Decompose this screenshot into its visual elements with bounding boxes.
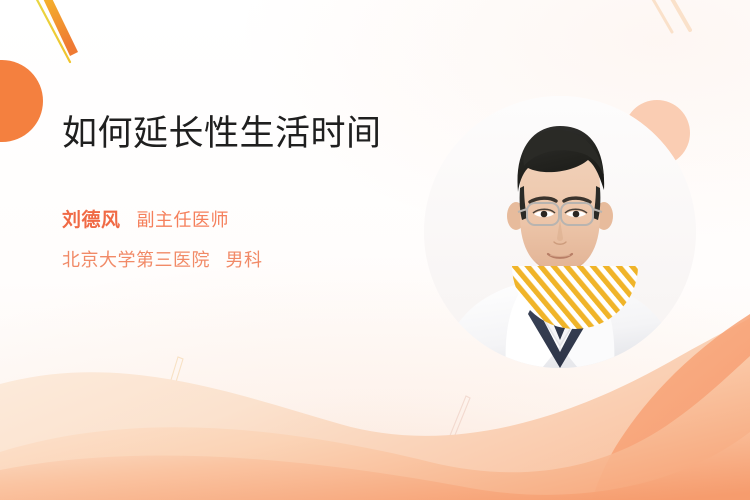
doctor-video-cover-card: 如何延长性生活时间 刘德风 副主任医师 北京大学第三医院 男科 [0,0,750,500]
portrait-clip [424,96,696,368]
doctor-photo-illustration [424,96,696,368]
doctor-credential-line: 刘德风 副主任医师 [62,205,412,232]
doctor-hospital: 北京大学第三医院 [62,250,210,270]
text-block: 如何延长性生活时间 刘德风 副主任医师 北京大学第三医院 男科 [62,112,412,272]
doctor-name: 刘德风 [62,205,121,232]
page-title: 如何延长性生活时间 [62,112,412,157]
doctor-rank: 副主任医师 [137,206,230,232]
doctor-portrait [424,96,696,368]
doctor-affiliation-line: 北京大学第三医院 男科 [62,246,412,272]
doctor-department: 男科 [226,250,263,270]
